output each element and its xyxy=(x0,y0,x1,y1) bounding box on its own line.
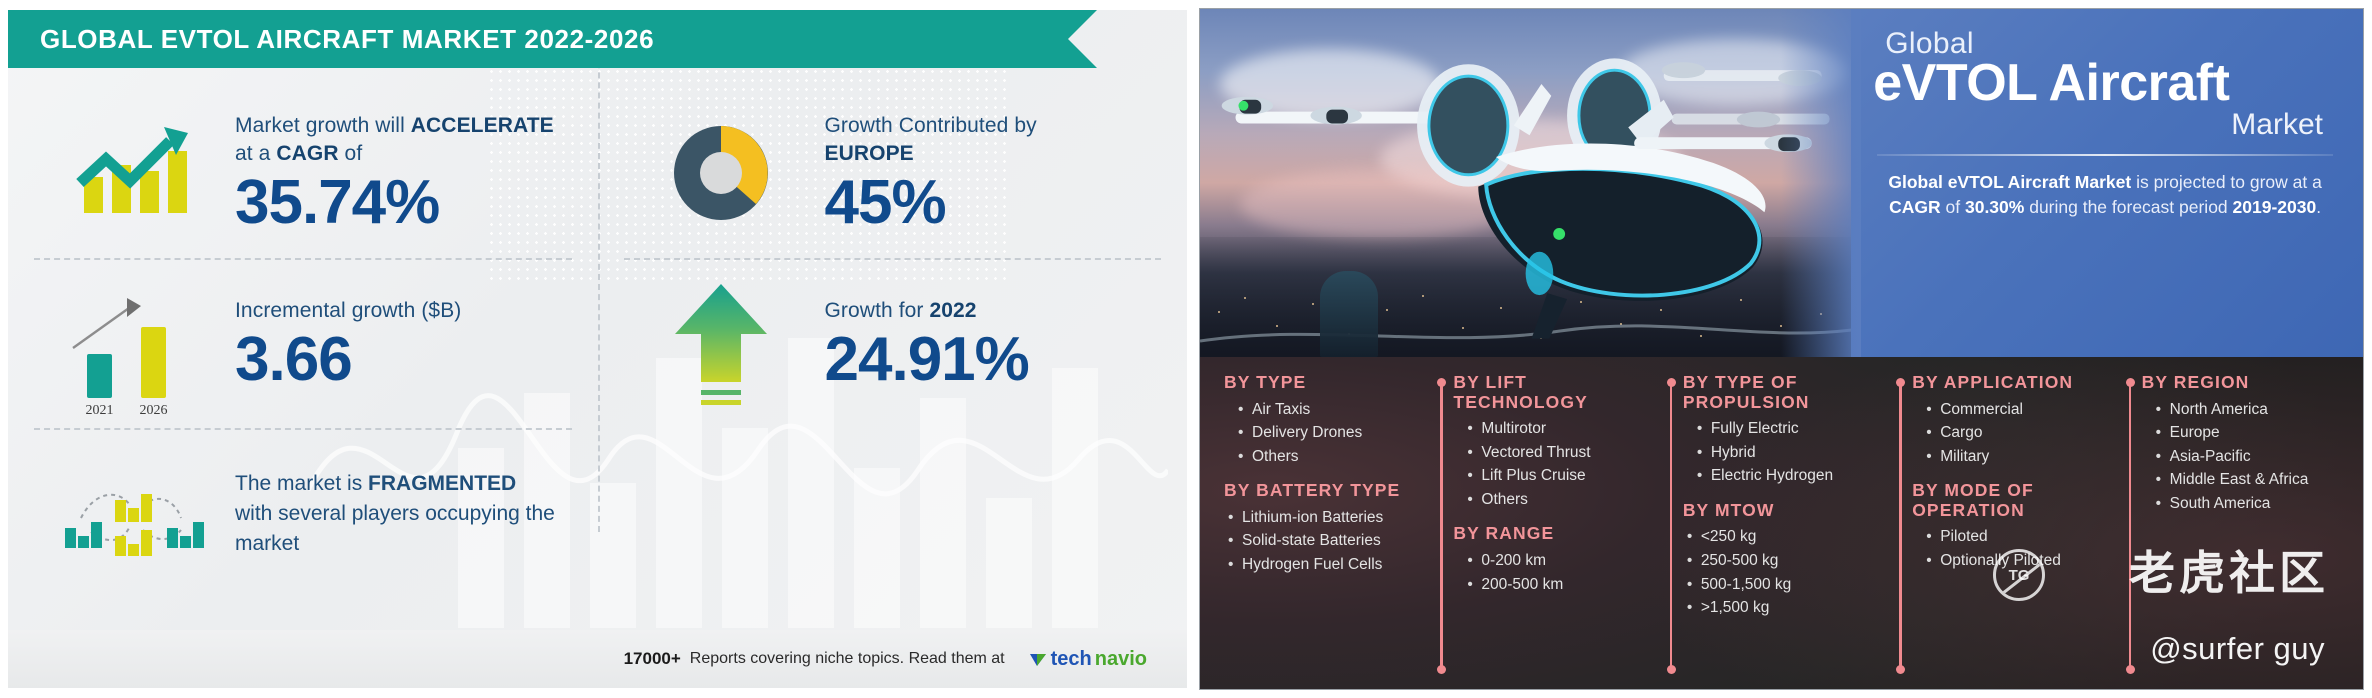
up-arrow-icon xyxy=(624,278,819,410)
list-item: Military xyxy=(1926,445,2115,469)
list-item: Solid-state Batteries xyxy=(1228,529,1427,553)
segment-list-by-application: Commercial Cargo Military xyxy=(1926,398,2115,469)
logo-text-tech: tech xyxy=(1051,648,1092,671)
segment-heading-by-type: BY TYPE xyxy=(1224,373,1427,393)
stat-europe-contribution: Growth Contributed by EUROPE 45% xyxy=(624,88,1162,258)
segment-list-by-mtow: <250 kg 250-500 kg 500-1,500 kg >1,500 k… xyxy=(1687,525,1886,619)
segment-separator xyxy=(1667,375,1675,677)
list-item: Hybrid xyxy=(1697,441,1886,465)
segment-list-by-propulsion: Fully Electric Hybrid Electric Hydrogen xyxy=(1697,417,1886,488)
cagr-lead-post: of xyxy=(339,142,363,165)
stat-year-end: 2026 xyxy=(133,403,175,419)
hero-subtitle: Market xyxy=(1873,108,2337,142)
segment-separator xyxy=(1896,375,1904,677)
stat-growth-2022-body: Growth for 2022 24.91% xyxy=(819,297,1162,391)
footer-text: Reports covering niche topics. Read them… xyxy=(690,650,1005,668)
technavio-infographic-panel: GLOBAL EVTOL AIRCRAFT MARKET 2022-2026 xyxy=(0,0,1195,698)
segment-separator xyxy=(1437,375,1445,677)
hero-title: eVTOL Aircraft xyxy=(1873,57,2337,110)
stat-europe-value: 45% xyxy=(825,172,1162,234)
stat-incremental-value: 3.66 xyxy=(235,329,572,391)
fragmented-market-icon xyxy=(34,466,229,562)
list-item: Hydrogen Fuel Cells xyxy=(1228,553,1427,577)
stats-column-left: Market growth will ACCELERATE at a CAGR … xyxy=(8,88,598,628)
segment-heading-by-mode-of-operation: BY MODE OF OPERATION xyxy=(1912,481,2115,520)
list-item: Fully Electric xyxy=(1697,417,1886,441)
evtol-aircraft-photo xyxy=(1200,9,1851,357)
segment-heading-by-region: BY REGION xyxy=(2142,373,2345,393)
evtol-market-panel: Global eVTOL Aircraft Market Global eVTO… xyxy=(1195,0,2372,698)
stat-cagr-label: Market growth will ACCELERATE at a CAGR … xyxy=(235,112,572,167)
list-item: Asia-Pacific xyxy=(2156,445,2345,469)
watermark-username: @surfer guy xyxy=(2150,631,2325,667)
watermark-brand: 老虎社区 xyxy=(2129,537,2329,603)
page-title: GLOBAL EVTOL AIRCRAFT MARKET 2022-2026 xyxy=(40,24,654,55)
stat-cagr-body: Market growth will ACCELERATE at a CAGR … xyxy=(229,112,572,233)
hero-description: Global eVTOL Aircraft Market is projecte… xyxy=(1873,170,2337,221)
hero-title-block: Global eVTOL Aircraft Market Global eVTO… xyxy=(1851,9,2363,357)
segment-heading-by-type-of-propulsion: BY TYPE OF PROPULSION xyxy=(1683,373,1886,412)
hero-desc-period: 2019-2030 xyxy=(2233,197,2317,217)
list-item: Cargo xyxy=(1926,421,2115,445)
hero-desc-mid2: of xyxy=(1941,197,1965,217)
stat-year-start: 2021 xyxy=(79,403,121,419)
hero-desc-mid1: is projected to grow at a xyxy=(2131,172,2322,192)
list-item: <250 kg xyxy=(1687,525,1886,549)
stat-europe-body: Growth Contributed by EUROPE 45% xyxy=(819,112,1162,233)
list-item: Others xyxy=(1467,488,1656,512)
list-item: Europe xyxy=(2156,421,2345,445)
list-item: Lithium-ion Batteries xyxy=(1228,506,1427,530)
frag-pre: The market is xyxy=(235,472,368,495)
segment-heading-by-application: BY APPLICATION xyxy=(1912,373,2115,393)
frag-post: with several players occupying the marke… xyxy=(235,502,555,555)
segment-column-lift-technology: BY LIFT TECHNOLOGY Multirotor Vectored T… xyxy=(1437,369,1666,687)
list-item: Electric Hydrogen xyxy=(1697,464,1886,488)
hero-desc-end: . xyxy=(2316,197,2321,217)
list-item: South America xyxy=(2156,492,2345,516)
list-item: 200-500 km xyxy=(1467,573,1656,597)
list-item: Others xyxy=(1238,445,1427,469)
cagr-lead-bold2: CAGR xyxy=(276,142,338,165)
bar-comparison-icon: 2021 2026 xyxy=(34,284,229,404)
hero-desc-cagr: CAGR xyxy=(1889,197,1941,217)
list-item: Delivery Drones xyxy=(1238,421,1427,445)
list-item: 500-1,500 kg xyxy=(1687,573,1886,597)
stat-growth-2022-label: Growth for 2022 xyxy=(825,297,1162,325)
stat-growth-2022-value: 24.91% xyxy=(825,329,1162,391)
hero-desc-bold1: Global eVTOL Aircraft Market xyxy=(1888,172,2131,192)
frag-bold: FRAGMENTED xyxy=(368,472,516,495)
stat-incremental-growth: 2021 2026 Incremental growth ($B) 3.66 xyxy=(34,258,572,428)
hero-desc-cagr-value: 30.30% xyxy=(1965,197,2024,217)
segment-heading-by-range: BY RANGE xyxy=(1453,524,1656,544)
watermark-logo-icon: TG xyxy=(1993,549,2045,601)
cagr-lead-mid: at a xyxy=(235,142,276,165)
segment-list-by-lift-technology: Multirotor Vectored Thrust Lift Plus Cru… xyxy=(1467,417,1656,511)
list-item: Commercial xyxy=(1926,398,2115,422)
list-item: Lift Plus Cruise xyxy=(1467,464,1656,488)
segment-column-type: BY TYPE Air Taxis Delivery Drones Others… xyxy=(1208,369,1437,687)
stat-fragmentation-body: The market is FRAGMENTED with several pl… xyxy=(229,469,572,558)
growth2022-year: 2022 xyxy=(929,299,976,322)
europe-lead-bold: EUROPE xyxy=(825,142,914,165)
footer-report-count: 17000+ xyxy=(624,649,681,669)
segment-list-by-type: Air Taxis Delivery Drones Others xyxy=(1238,398,1427,469)
watermark-logo-text: TG xyxy=(2009,567,2030,584)
logo-text-navio: navio xyxy=(1095,648,1147,671)
list-item: >1,500 kg xyxy=(1687,596,1886,620)
cagr-lead-pre: Market growth will xyxy=(235,114,411,137)
donut-chart-icon xyxy=(624,114,819,232)
segment-separator xyxy=(2126,375,2134,677)
technavio-mark-icon xyxy=(1028,649,1048,669)
stat-fragmentation-text: The market is FRAGMENTED with several pl… xyxy=(235,469,572,558)
list-item: North America xyxy=(2156,398,2345,422)
spacer-row xyxy=(624,428,1162,568)
segment-column-propulsion: BY TYPE OF PROPULSION Fully Electric Hyb… xyxy=(1667,369,1896,687)
list-item: 0-200 km xyxy=(1467,549,1656,573)
stat-growth-2022: Growth for 2022 24.91% xyxy=(624,258,1162,428)
stat-incremental-body: Incremental growth ($B) 3.66 xyxy=(229,297,572,391)
panel-title-bar: GLOBAL EVTOL AIRCRAFT MARKET 2022-2026 xyxy=(8,10,1068,68)
growth-chart-icon xyxy=(34,121,229,225)
evtol-aircraft-illustration xyxy=(1200,9,1851,352)
hero-divider xyxy=(1877,154,2333,156)
list-item: Vectored Thrust xyxy=(1467,441,1656,465)
segment-list-by-battery-type: Lithium-ion Batteries Solid-state Batter… xyxy=(1228,506,1427,577)
stat-cagr: Market growth will ACCELERATE at a CAGR … xyxy=(34,88,572,258)
stat-market-fragmentation: The market is FRAGMENTED with several pl… xyxy=(34,428,572,598)
segment-heading-by-lift-technology: BY LIFT TECHNOLOGY xyxy=(1453,373,1656,412)
segment-heading-by-battery-type: BY BATTERY TYPE xyxy=(1224,481,1427,501)
list-item: 250-500 kg xyxy=(1687,549,1886,573)
segment-list-by-range: 0-200 km 200-500 km xyxy=(1467,549,1656,596)
hero-desc-mid3: during the forecast period xyxy=(2024,197,2232,217)
hero-section: Global eVTOL Aircraft Market Global eVTO… xyxy=(1200,9,2363,357)
stats-grid: Market growth will ACCELERATE at a CAGR … xyxy=(8,68,1187,628)
growth2022-lead: Growth for xyxy=(825,299,930,322)
panel-footer: 17000+ Reports covering niche topics. Re… xyxy=(8,630,1187,688)
list-item: Multirotor xyxy=(1467,417,1656,441)
segment-heading-by-mtow: BY MTOW xyxy=(1683,501,1886,521)
technavio-logo[interactable]: technavio xyxy=(1028,648,1147,671)
stat-cagr-value: 35.74% xyxy=(235,172,572,234)
list-item: Piloted xyxy=(1926,525,2115,549)
list-item: Middle East & Africa xyxy=(2156,468,2345,492)
stats-column-right: Growth Contributed by EUROPE 45% xyxy=(598,88,1188,628)
europe-lead: Growth Contributed by xyxy=(825,114,1037,137)
list-item: Air Taxis xyxy=(1238,398,1427,422)
stat-incremental-label: Incremental growth ($B) xyxy=(235,297,572,325)
stat-europe-label: Growth Contributed by EUROPE xyxy=(825,112,1162,167)
segment-list-by-region: North America Europe Asia-Pacific Middle… xyxy=(2156,398,2345,516)
cagr-lead-bold: ACCELERATE xyxy=(411,114,554,137)
segment-column-application: BY APPLICATION Commercial Cargo Military… xyxy=(1896,369,2125,687)
infographic-stage: GLOBAL EVTOL AIRCRAFT MARKET 2022-2026 xyxy=(0,0,2372,698)
